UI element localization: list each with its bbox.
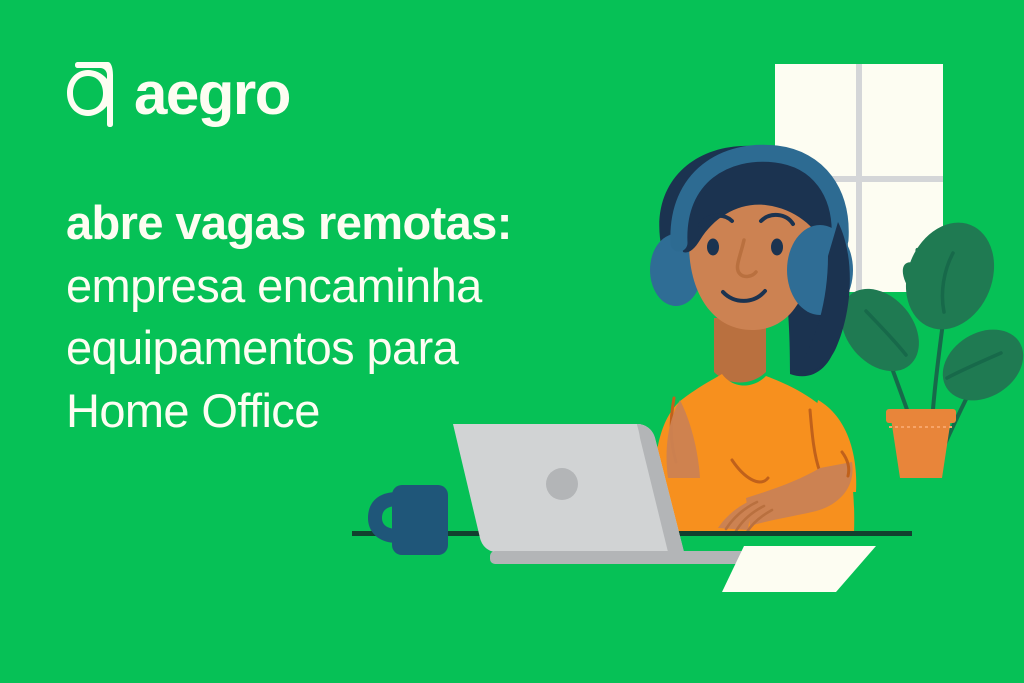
poster-canvas: aegro abre vagas remotas: empresa encami… (0, 0, 1024, 683)
headline-line-2: empresa encaminha (66, 255, 666, 318)
headline-line-3: equipamentos para (66, 317, 666, 380)
brand-lockup[interactable]: aegro (64, 57, 290, 131)
headline-line-4: Home Office (66, 380, 666, 443)
headline-line-1: abre vagas remotas: (66, 192, 666, 255)
headline-block: abre vagas remotas: empresa encaminha eq… (66, 192, 666, 442)
brand-wordmark: aegro (134, 64, 290, 124)
laptop-logo-icon (546, 468, 578, 500)
aegro-leaf-a-mark-icon (64, 57, 120, 131)
